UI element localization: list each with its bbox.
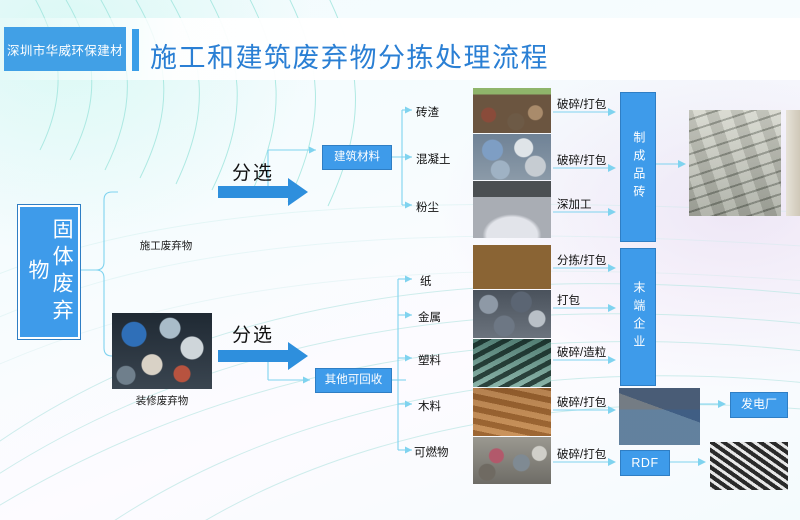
- flowchart-canvas: 深圳市华威环保建材 施工和建筑废弃物分拣处理流程: [0, 0, 800, 520]
- title-accent-bar: [132, 29, 139, 71]
- process-label-crush-pack-3: 破碎/打包: [557, 394, 606, 410]
- photo-brick-wall-partial: [786, 110, 800, 216]
- process-label-crush-pack-4: 破碎/打包: [557, 446, 606, 462]
- photo-combustible: [473, 437, 551, 484]
- photo-renovation-waste: [112, 313, 212, 389]
- sort-label-top: 分选: [232, 158, 274, 185]
- output-box-rdf[interactable]: RDF: [620, 450, 670, 476]
- branch-label-brick-slag: 砖渣: [416, 104, 439, 120]
- photo-construction-waste: [118, 156, 214, 234]
- category-box-construction-material[interactable]: 建筑材料: [322, 145, 392, 170]
- photo-wood: [473, 388, 551, 436]
- process-label-crush-pack-2: 破碎/打包: [557, 152, 606, 168]
- branch-label-dust: 粉尘: [416, 199, 439, 215]
- photo-conveyor-line: [619, 388, 700, 445]
- process-label-crush-granulate: 破碎/造粒: [557, 344, 606, 360]
- category-box-other-recyclable[interactable]: 其他可回收: [315, 368, 392, 393]
- page-title: 施工和建筑废弃物分拣处理流程: [150, 36, 549, 75]
- process-label-pack: 打包: [557, 292, 580, 308]
- photo-dust: [473, 181, 551, 238]
- process-label-deep-processing: 深加工: [557, 196, 592, 212]
- photo-plastic: [473, 339, 551, 387]
- photo-concrete: [473, 134, 551, 180]
- photo-metal: [473, 290, 551, 338]
- company-logo: 深圳市华威环保建材: [4, 27, 126, 71]
- branch-label-plastic: 塑料: [418, 352, 441, 368]
- process-label-sort-pack: 分拣/打包: [557, 252, 606, 268]
- photo-caption-renovation-waste: 装修废弃物: [112, 393, 212, 408]
- source-box[interactable]: 固体废弃物: [18, 205, 80, 339]
- branch-label-paper: 纸: [420, 273, 432, 289]
- photo-brick-slag: [473, 88, 551, 133]
- branch-label-combustible: 可燃物: [414, 444, 449, 460]
- photo-finished-bricks: [689, 110, 781, 216]
- process-label-crush-pack-1: 破碎/打包: [557, 96, 606, 112]
- output-box-terminal-enterprise[interactable]: 末端企业: [620, 248, 656, 386]
- branch-label-concrete: 混凝土: [416, 151, 451, 167]
- sort-label-bottom: 分选: [232, 320, 274, 347]
- branch-label-metal: 金属: [418, 309, 441, 325]
- photo-paper: [473, 245, 551, 289]
- branch-label-wood: 木料: [418, 398, 441, 414]
- photo-caption-construction-waste: 施工废弃物: [118, 238, 214, 253]
- output-box-power-plant[interactable]: 发电厂: [730, 392, 788, 418]
- output-box-finished-brick[interactable]: 制成品砖: [620, 92, 656, 242]
- photo-rdf-pellets: [710, 442, 788, 490]
